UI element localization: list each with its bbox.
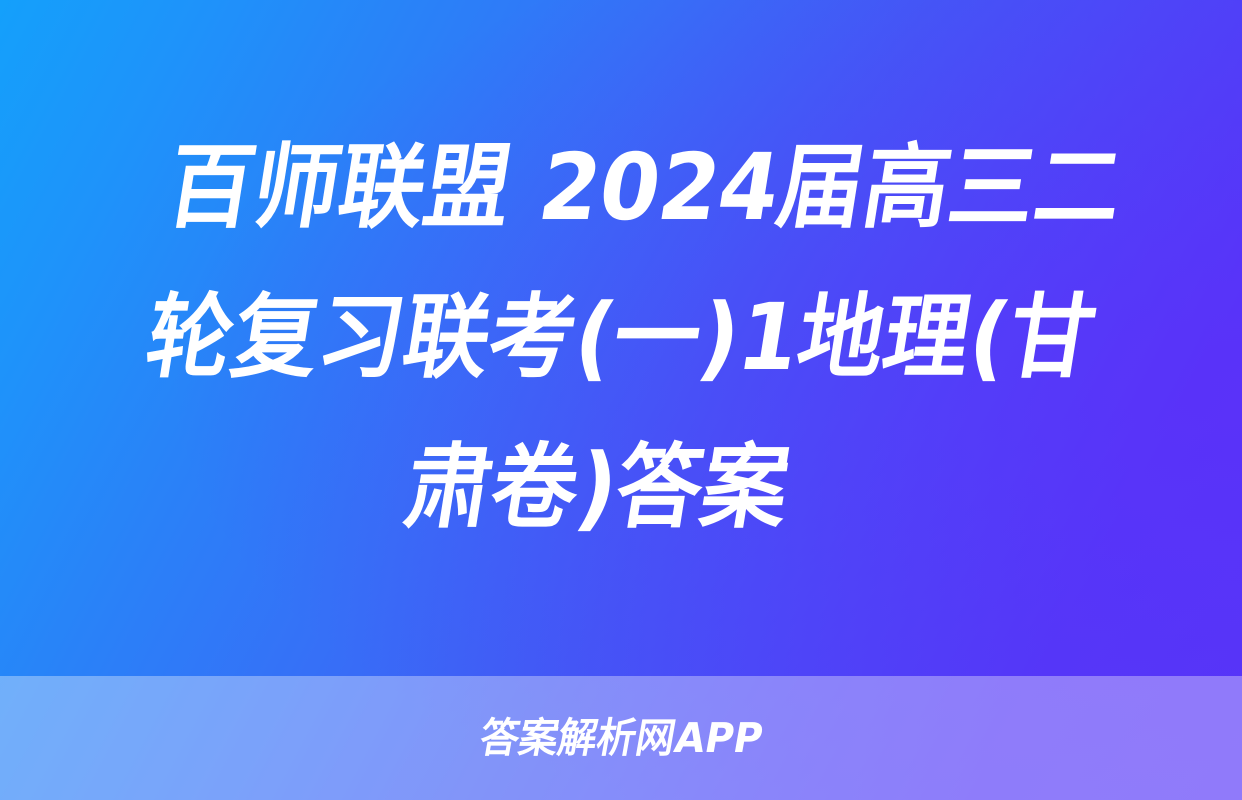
app-watermark-label: 答案解析网APP (476, 714, 766, 762)
headline-area: 百师联盟 2024届高三二轮复习联考(一)1地理(甘肃卷)答案 (0, 0, 1242, 676)
footer-watermark-band: 答案解析网APP (0, 676, 1242, 800)
cover-card: 百师联盟 2024届高三二轮复习联考(一)1地理(甘肃卷)答案 答案解析网APP (0, 0, 1242, 800)
page-title: 百师联盟 2024届高三二轮复习联考(一)1地理(甘肃卷)答案 (74, 113, 1168, 563)
